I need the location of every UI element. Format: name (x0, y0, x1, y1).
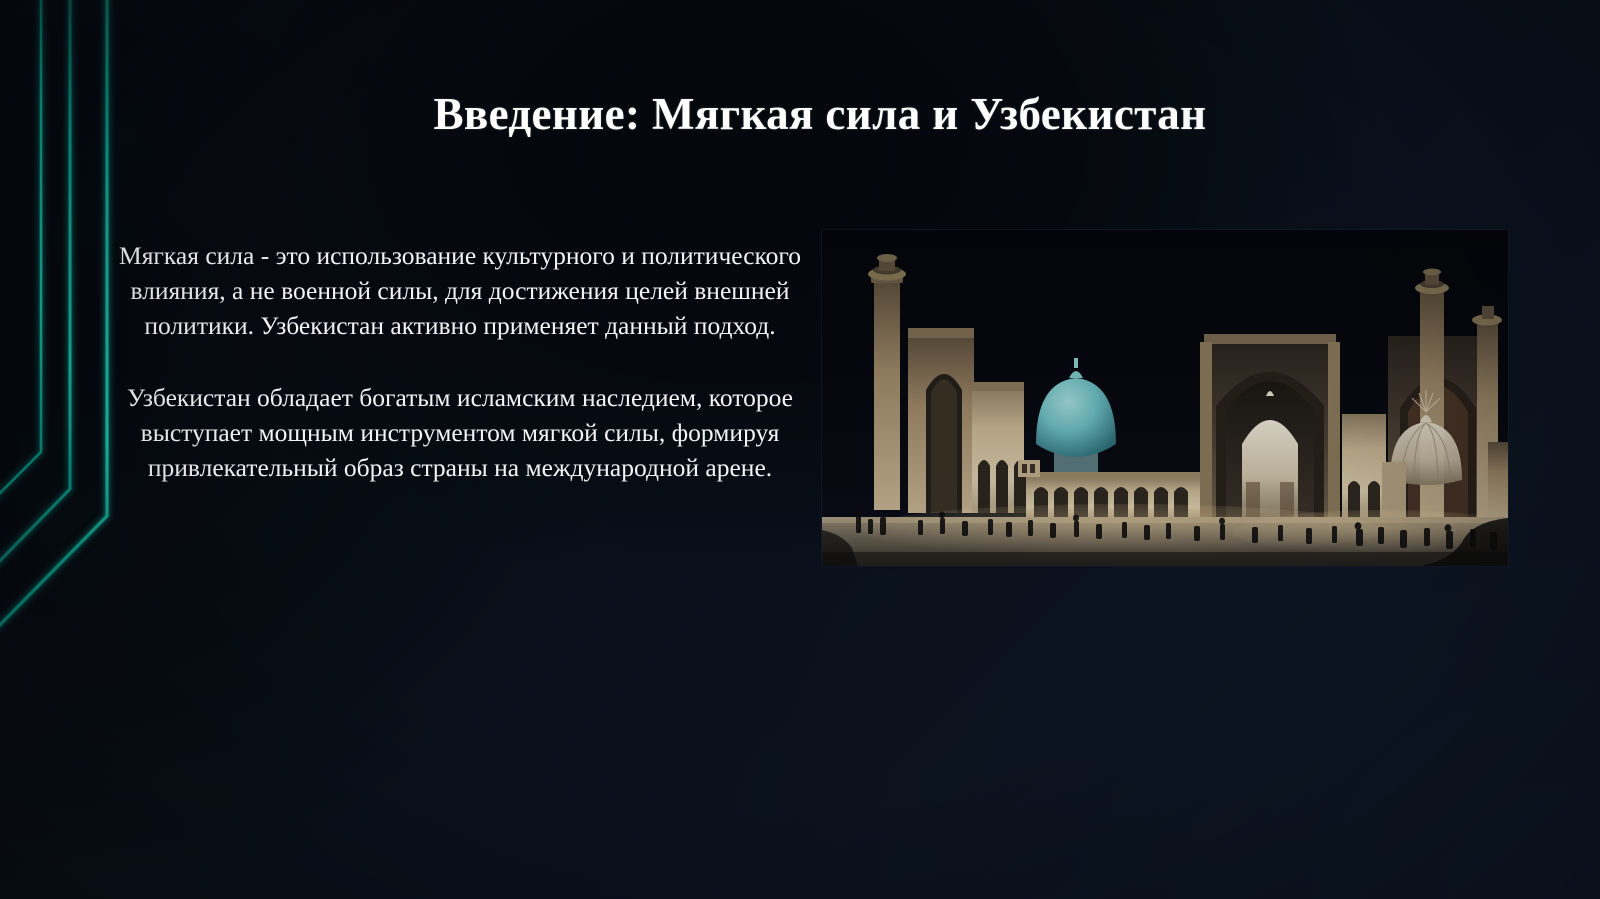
registan-square-photo (822, 230, 1508, 566)
body-paragraph-1: Мягкая сила - это использование культурн… (90, 238, 830, 344)
registan-illustration (822, 230, 1508, 566)
slide-title: Введение: Мягкая сила и Узбекистан (240, 88, 1400, 140)
body-paragraph-2: Узбекистан обладает богатым исламским на… (90, 380, 830, 486)
slide-body-text: Мягкая сила - это использование культурн… (90, 238, 830, 485)
presentation-slide: Введение: Мягкая сила и Узбекистан Мягка… (0, 0, 1600, 899)
